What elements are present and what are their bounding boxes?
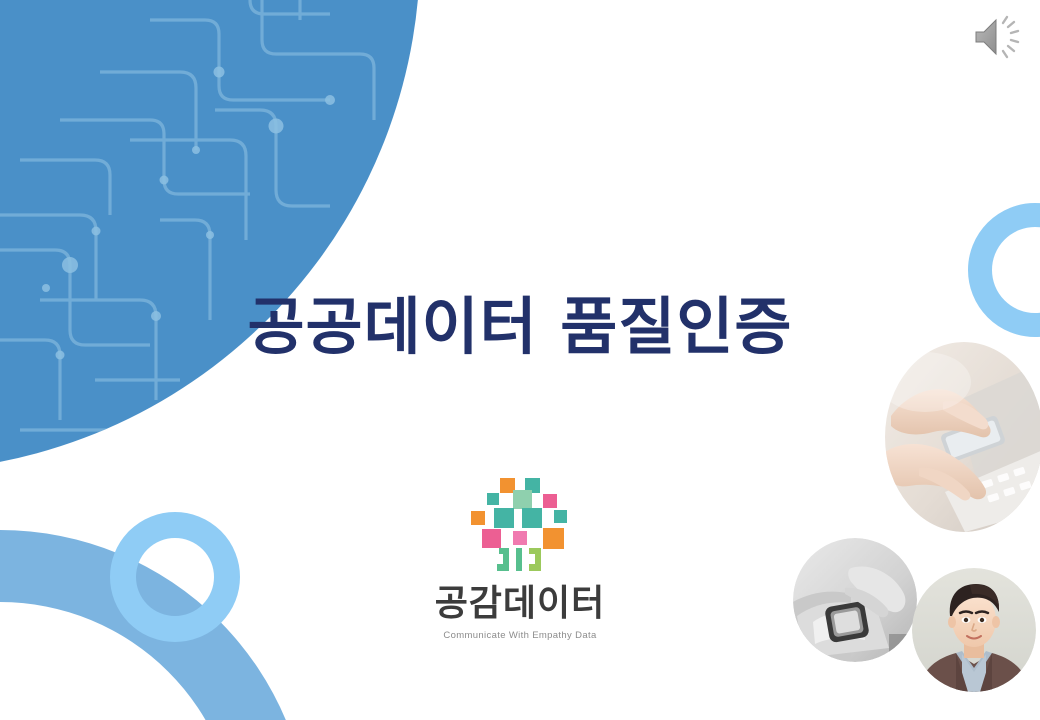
company-logo: 공감데이터 Communicate With Empathy Data bbox=[395, 476, 645, 641]
slide-title-container: 공공데이터 품질인증 bbox=[0, 252, 1040, 402]
person-portrait-photo bbox=[912, 568, 1036, 692]
bottom-left-ring-shape bbox=[123, 525, 227, 629]
bottom-left-arc-shape bbox=[0, 530, 310, 720]
hands-typing-photo bbox=[885, 342, 1040, 532]
smartwatch-photo bbox=[793, 538, 917, 662]
logo-name: 공감데이터 bbox=[395, 586, 645, 622]
presentation-slide: 공공데이터 품질인증 bbox=[0, 0, 1040, 720]
logo-tree-mark bbox=[459, 476, 581, 580]
slide-title: 공공데이터 품질인증 bbox=[248, 294, 793, 361]
logo-tagline: Communicate With Empathy Data bbox=[395, 630, 645, 641]
speaker-icon[interactable] bbox=[966, 10, 1026, 64]
logo-tree-icon bbox=[459, 476, 581, 580]
